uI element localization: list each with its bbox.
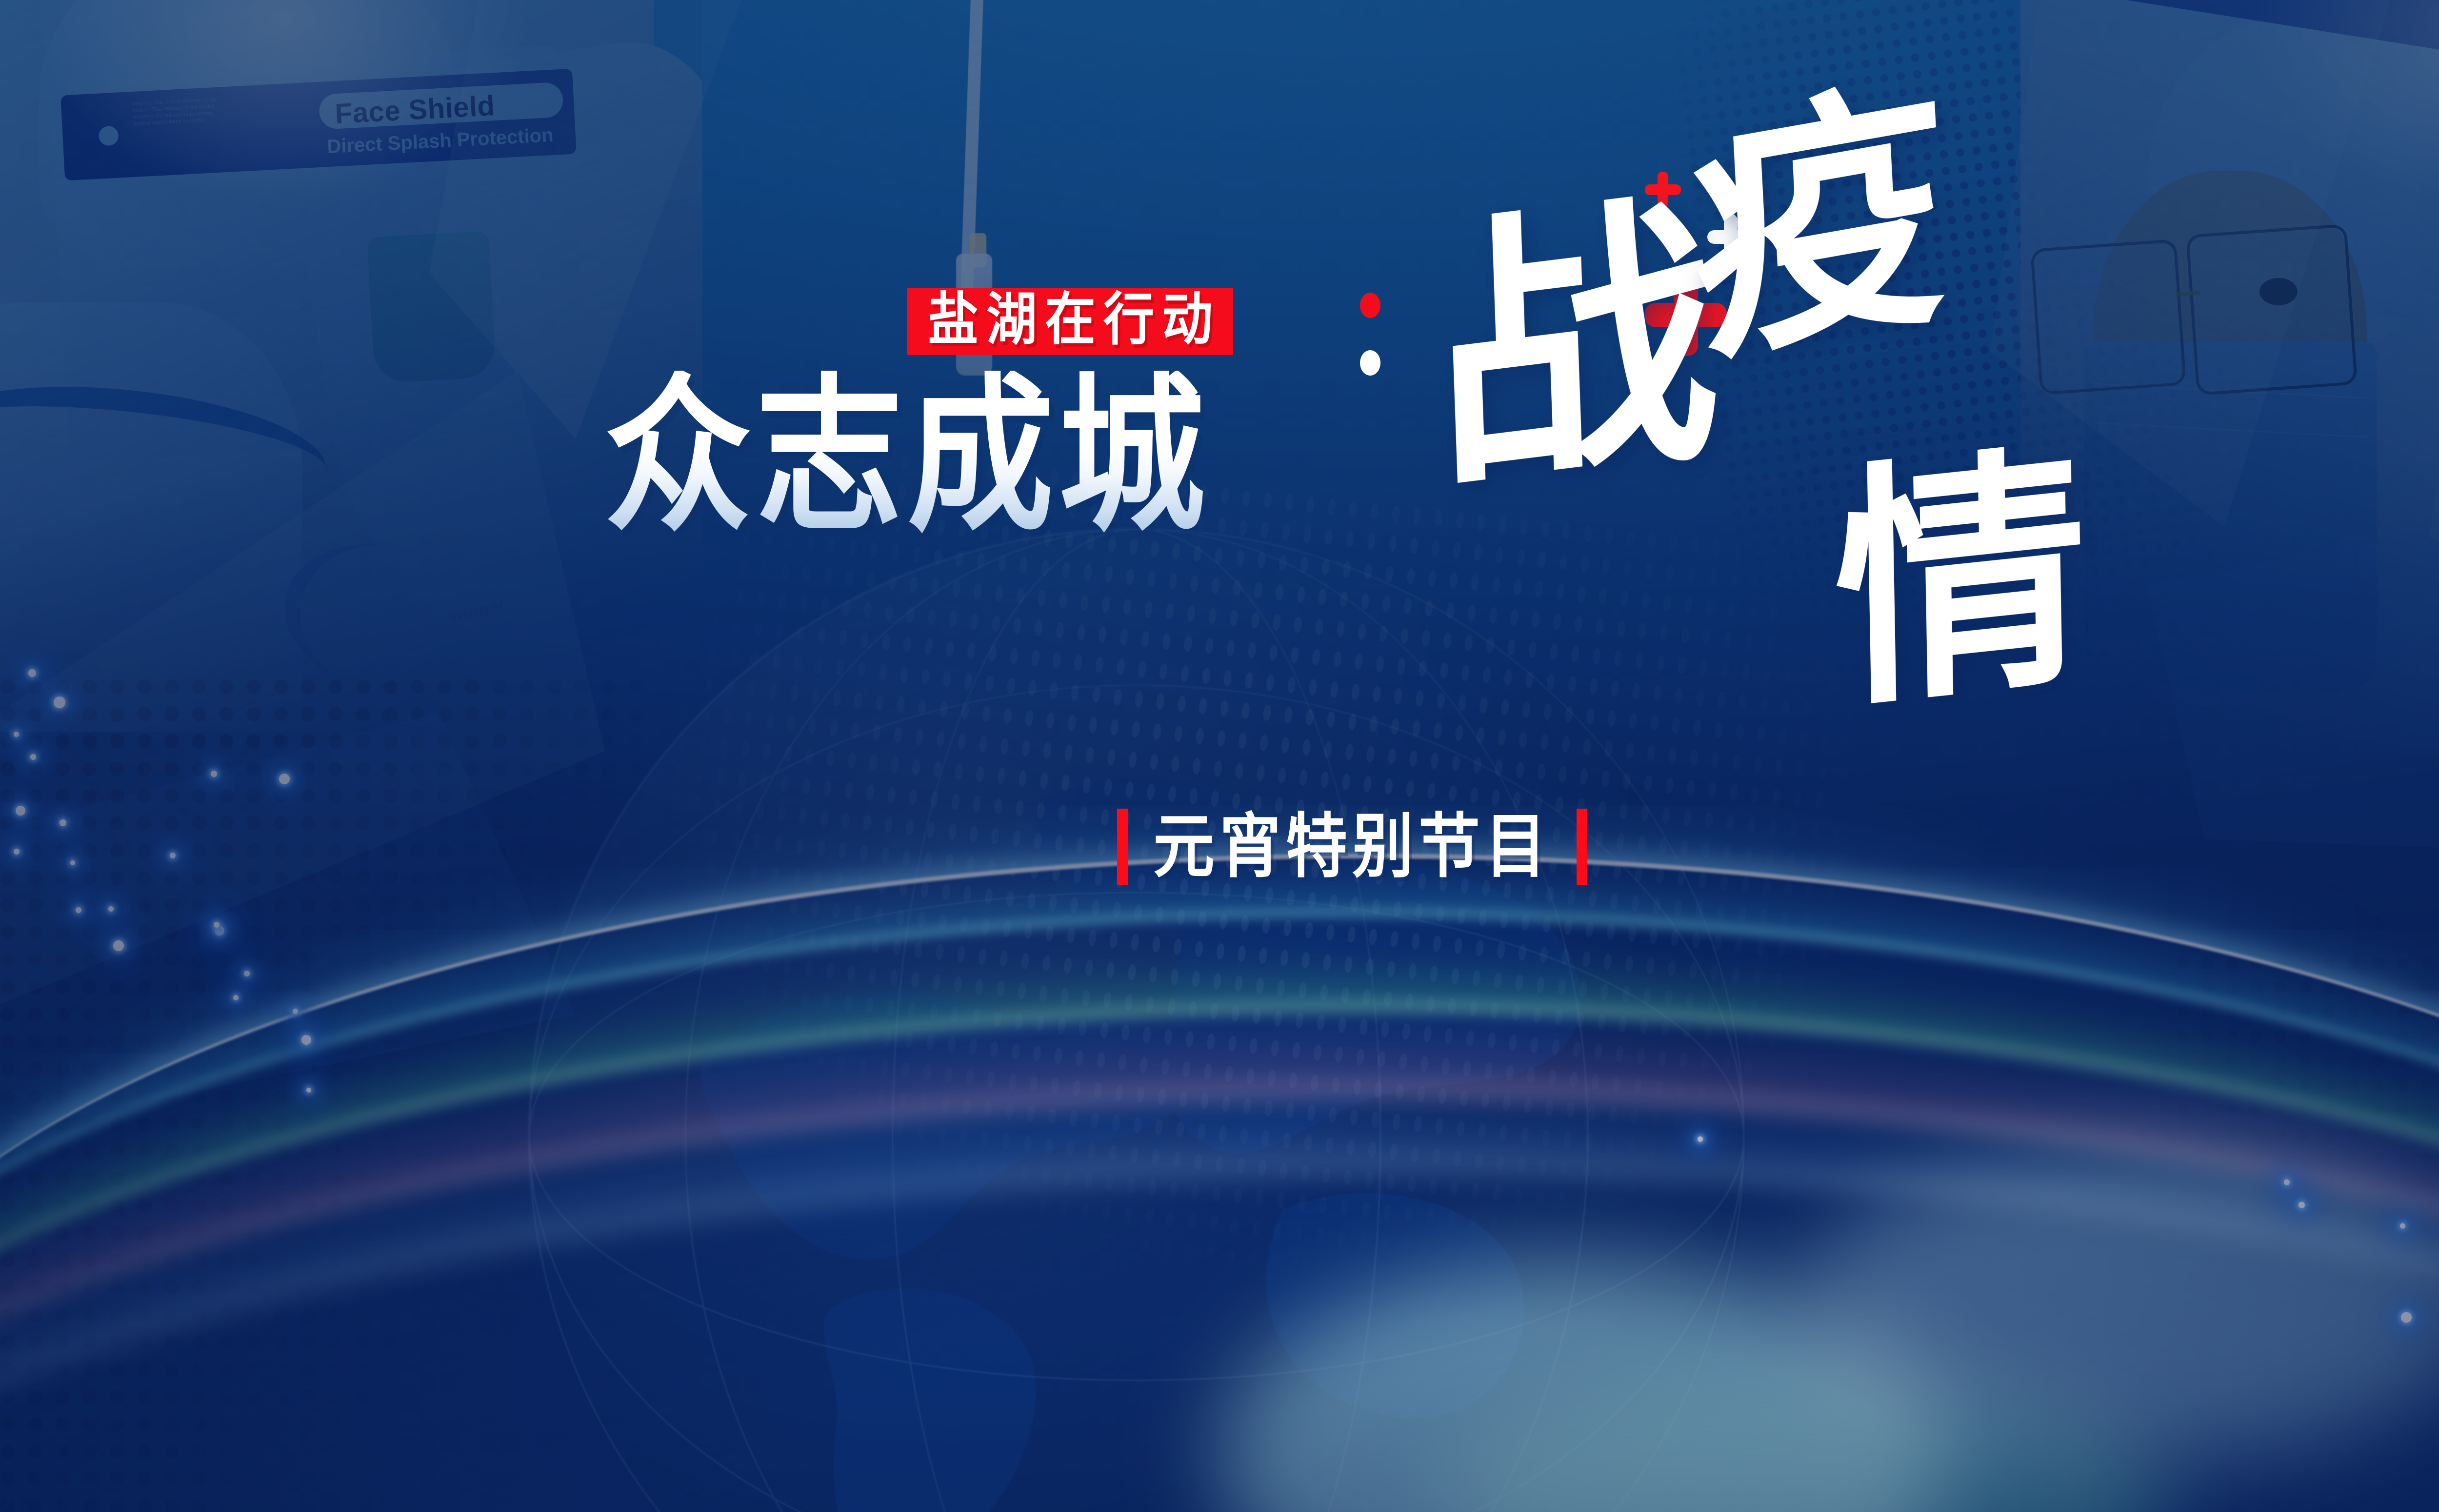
brush-char-qing: 情: [1833, 440, 2089, 721]
colon-dot-top: [1360, 293, 1380, 318]
title-block: 盐湖在行动 众志成城 战 疫 情 元宵特别节目: [0, 0, 2439, 1512]
kicker-banner: 盐湖在行动: [907, 288, 1233, 355]
subtitle-row: 元宵特别节目: [1117, 809, 1587, 885]
headline-text: 众志成城: [605, 371, 1210, 540]
subtitle-text: 元宵特别节目: [1153, 812, 1551, 882]
poster-root: Warning: Use only to prevent liquids or …: [0, 0, 2439, 1512]
colon-dot-bottom: [1360, 350, 1380, 376]
subtitle-bar-right: [1577, 809, 1587, 885]
kicker-text: 盐湖在行动: [920, 292, 1220, 348]
brush-char-zhan: 战: [1430, 186, 1721, 506]
kicker-colon: [1360, 293, 1380, 385]
brush-char-yi: 疫: [1685, 72, 1954, 377]
subtitle-bar-left: [1117, 809, 1128, 885]
